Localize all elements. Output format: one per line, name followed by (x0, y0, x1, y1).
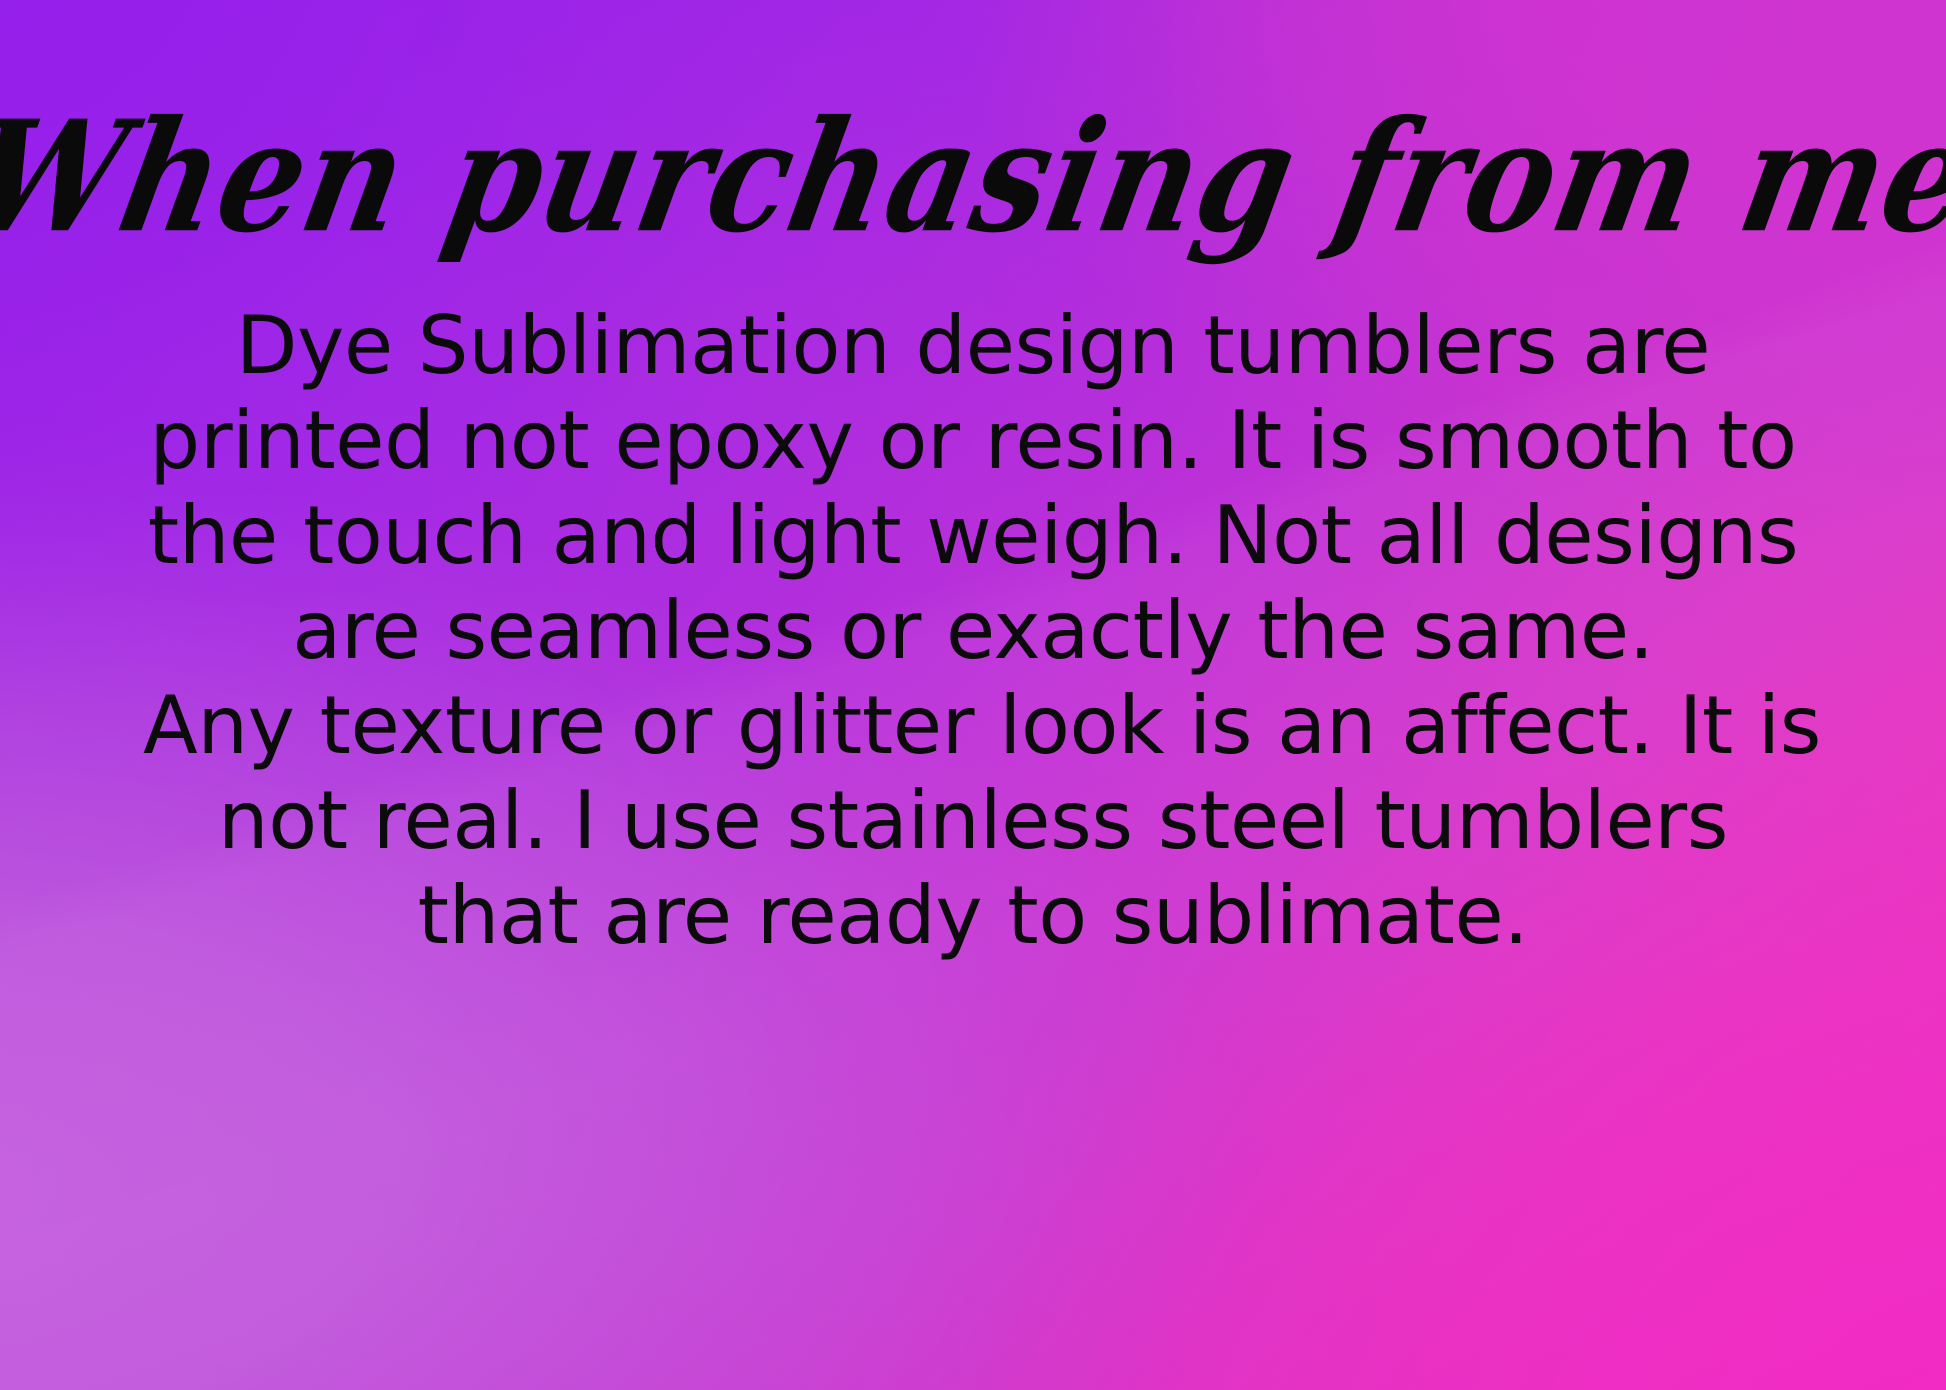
promo-card: When purchasing from me Dye Sublimation … (0, 0, 1946, 1390)
body-copy-line: are seamless or exactly the same. (143, 583, 1803, 678)
body-copy-line: not real. I use stainless steel tumblers (143, 773, 1803, 868)
headline-script-title: When purchasing from me (0, 101, 1946, 254)
body-copy-line: that are ready to sublimate. (143, 868, 1803, 963)
body-copy-line: the touch and light weigh. Not all desig… (143, 488, 1803, 583)
body-copy-line: Dye Sublimation design tumblers are (143, 298, 1803, 393)
body-copy-block: Dye Sublimation design tumblers are prin… (103, 298, 1843, 963)
card-content: When purchasing from me Dye Sublimation … (0, 0, 1946, 1390)
body-copy-line: Any texture or glitter look is an affect… (143, 678, 1803, 773)
body-copy-line: printed not epoxy or resin. It is smooth… (143, 393, 1803, 488)
